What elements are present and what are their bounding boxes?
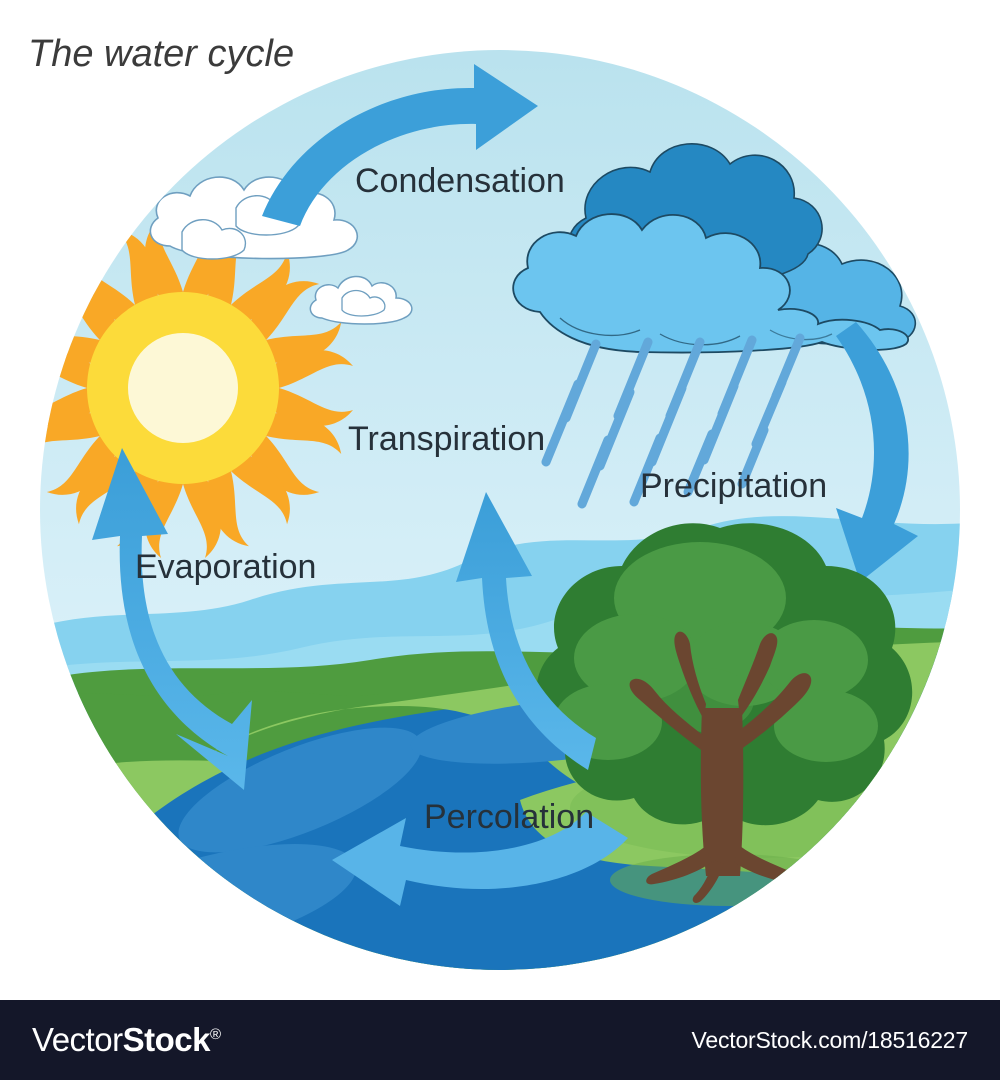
label-precipitation: Precipitation [640, 467, 827, 505]
logo-brand-light: Vector [32, 1021, 123, 1058]
vectorstock-url: VectorStock.com/18516227 [692, 1027, 969, 1054]
label-percolation: Percolation [424, 798, 594, 836]
scene-circle [0, 0, 1000, 1000]
water-cycle-illustration: The water cycle Condensation Precipitati… [0, 0, 1000, 1000]
sun-core [128, 333, 238, 443]
diagram-canvas: The water cycle Condensation Precipitati… [0, 0, 1000, 1000]
logo-brand-bold: Stock [123, 1021, 210, 1058]
label-condensation: Condensation [355, 162, 565, 200]
vectorstock-logo: VectorStock® [32, 1021, 221, 1059]
watermark-bar: VectorStock® VectorStock.com/18516227 [0, 1000, 1000, 1080]
registered-trademark-icon: ® [210, 1026, 221, 1043]
label-transpiration: Transpiration [348, 420, 545, 458]
page-title: The water cycle [28, 33, 294, 75]
label-evaporation: Evaporation [135, 548, 316, 586]
